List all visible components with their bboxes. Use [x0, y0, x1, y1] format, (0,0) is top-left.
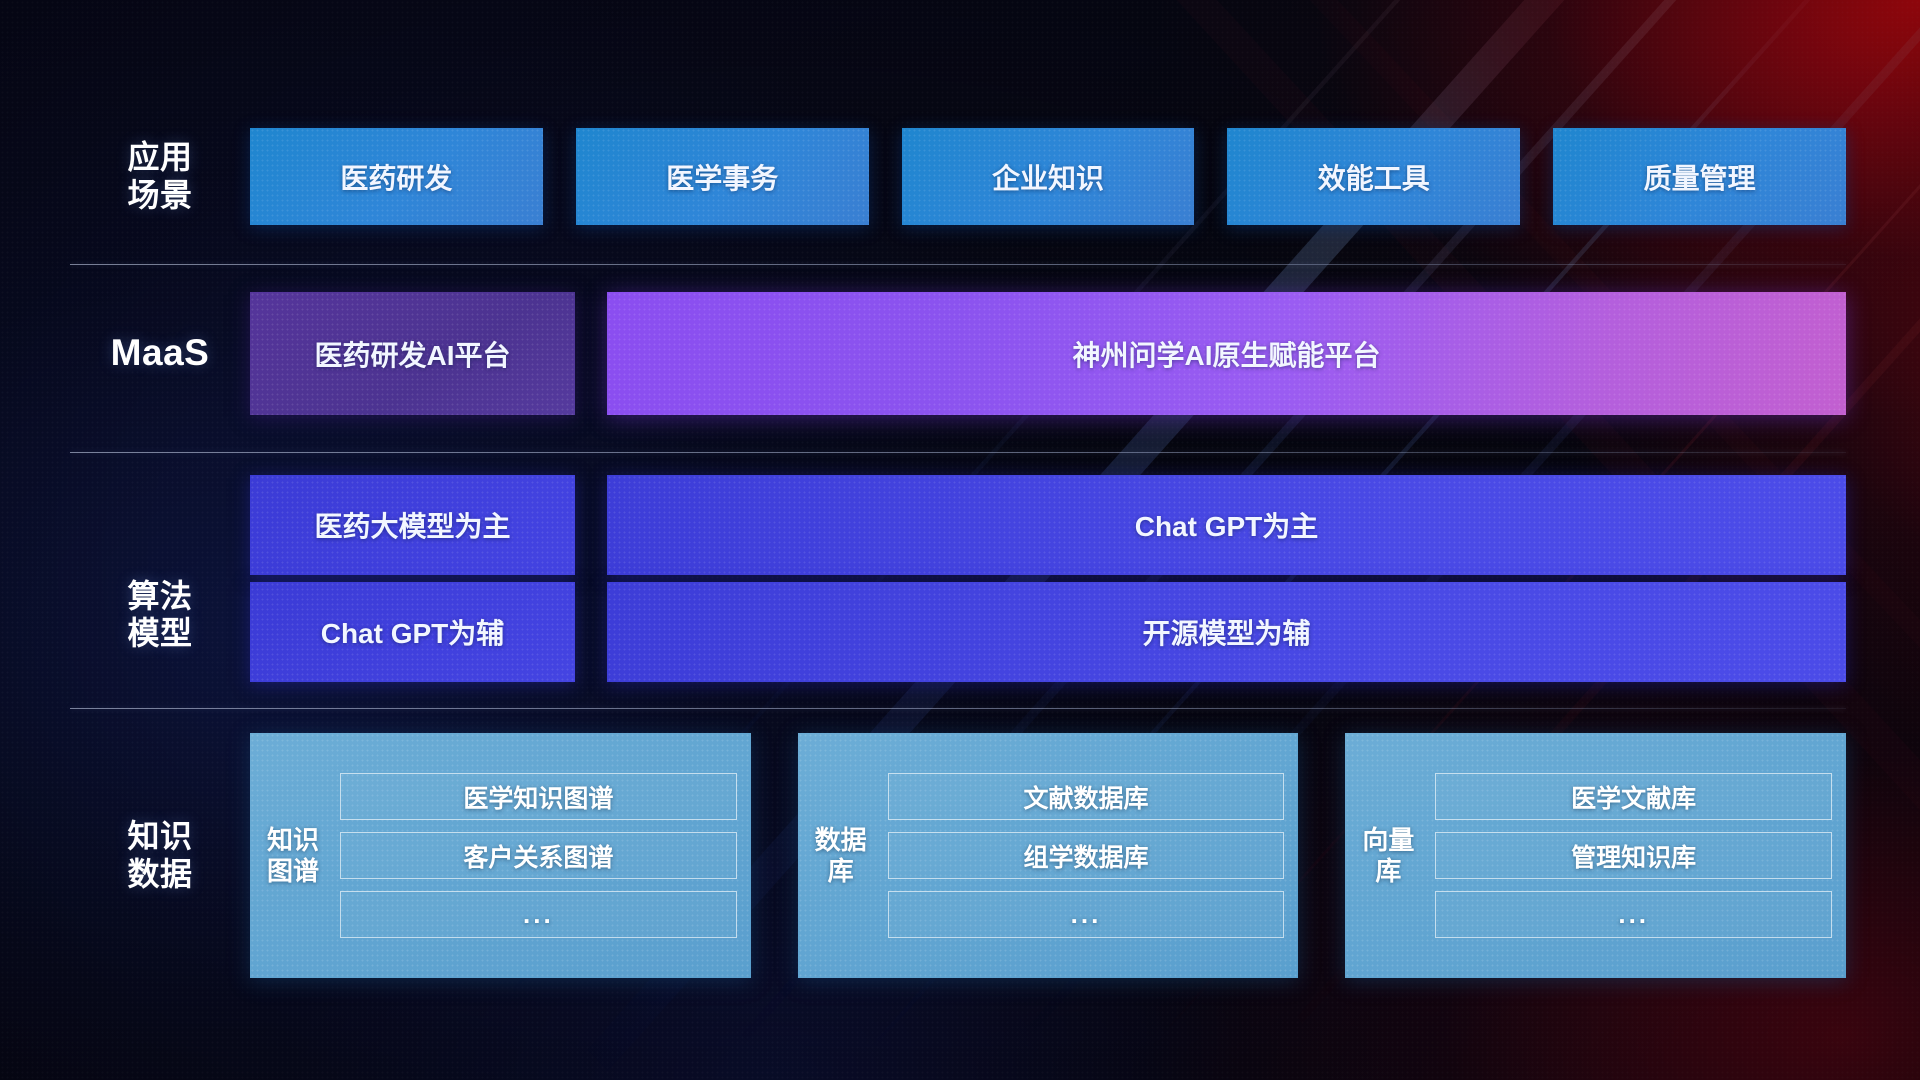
maas-main-tile-label: 神州问学AI原生赋能平台 [1072, 334, 1380, 374]
app-tile-1[interactable]: 医药研发 [250, 128, 543, 225]
knowledge-item[interactable]: 管理知识库 [1435, 832, 1832, 879]
knowledge-item-more[interactable]: ... [1435, 891, 1832, 938]
knowledge-item[interactable]: 医学文献库 [1435, 773, 1832, 820]
app-tile-1-label: 医药研发 [340, 157, 452, 197]
maas-left-tile[interactable]: 医药研发AI平台 [250, 292, 575, 415]
knowledge-item[interactable]: 医学知识图谱 [340, 773, 737, 820]
row-knowledge-data: 知识 数据 知识图谱 医学知识图谱 客户关系图谱 ... 数据库 文献数据库 [70, 733, 1846, 978]
algorithm-main-tile-2-label: 开源模型为辅 [1142, 612, 1310, 652]
row-label-maas: MaaS [70, 332, 250, 375]
knowledge-group-vector-side-label: 向量库 [1355, 825, 1421, 886]
algorithm-main-tile-1[interactable]: Chat GPT为主 [607, 475, 1846, 575]
app-tile-3[interactable]: 企业知识 [902, 128, 1195, 225]
knowledge-item-more[interactable]: ... [888, 891, 1285, 938]
app-tile-5-label: 质量管理 [1644, 157, 1756, 197]
app-tile-4[interactable]: 效能工具 [1227, 128, 1520, 225]
algorithm-left-tile-1-label: 医药大模型为主 [314, 505, 510, 545]
app-tile-5[interactable]: 质量管理 [1553, 128, 1846, 225]
row-application-scenario: 应用 场景 医药研发 医学事务 企业知识 效能工具 [70, 128, 1846, 225]
maas-main-tile[interactable]: 神州问学AI原生赋能平台 [607, 292, 1846, 415]
knowledge-group-vector[interactable]: 向量库 医学文献库 管理知识库 ... [1345, 733, 1846, 978]
row-algorithm-model-first: 算法 模型 医药大模型为主 Chat GPT为主 [70, 466, 1846, 584]
knowledge-item-more[interactable]: ... [340, 891, 737, 938]
knowledge-group-database-side-label: 数据库 [808, 825, 874, 886]
row-label-knowledge-data: 知识 数据 [70, 818, 250, 892]
row-label-application-scenario: 应用 场景 [70, 139, 250, 213]
divider-1 [70, 264, 1846, 265]
algorithm-left-tile-1[interactable]: 医药大模型为主 [250, 475, 575, 575]
knowledge-group-graph[interactable]: 知识图谱 医学知识图谱 客户关系图谱 ... [250, 733, 751, 978]
algorithm-left-tile-2[interactable]: Chat GPT为辅 [250, 582, 575, 682]
knowledge-group-database[interactable]: 数据库 文献数据库 组学数据库 ... [798, 733, 1299, 978]
knowledge-item[interactable]: 客户关系图谱 [340, 832, 737, 879]
algorithm-main-tile-1-label: Chat GPT为主 [1135, 505, 1319, 545]
knowledge-item[interactable]: 组学数据库 [888, 832, 1285, 879]
app-tile-2-label: 医学事务 [666, 157, 778, 197]
row-maas: MaaS 医药研发AI平台 神州问学AI原生赋能平台 [70, 292, 1846, 415]
app-tile-2[interactable]: 医学事务 [576, 128, 869, 225]
diagram-canvas: 应用 场景 医药研发 医学事务 企业知识 效能工具 [0, 0, 1920, 1080]
divider-3 [70, 708, 1846, 709]
app-tile-3-label: 企业知识 [992, 157, 1104, 197]
knowledge-item[interactable]: 文献数据库 [888, 773, 1285, 820]
row-algorithm-model-second: Chat GPT为辅 开源模型为辅 [70, 582, 1846, 682]
divider-2 [70, 452, 1846, 453]
app-tile-4-label: 效能工具 [1318, 157, 1430, 197]
algorithm-left-tile-2-label: Chat GPT为辅 [321, 612, 505, 652]
maas-left-tile-label: 医药研发AI平台 [314, 334, 510, 374]
algorithm-main-tile-2[interactable]: 开源模型为辅 [607, 582, 1846, 682]
knowledge-group-graph-side-label: 知识图谱 [260, 825, 326, 886]
